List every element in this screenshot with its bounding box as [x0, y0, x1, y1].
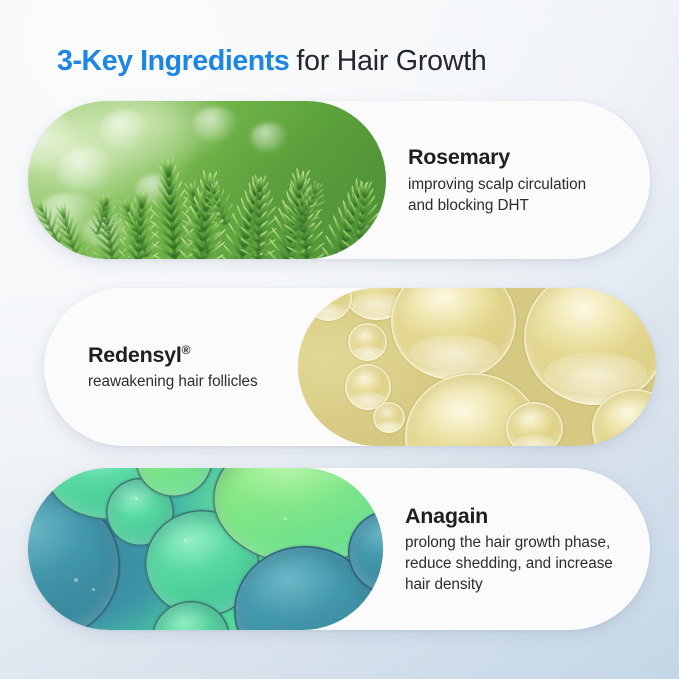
rosemary-sprig	[358, 193, 367, 259]
ingredient-description-redensyl: reawakening hair follicles	[88, 371, 284, 392]
description-line: reawakening hair follicles	[88, 371, 284, 392]
rosemary-sprig	[63, 214, 80, 259]
rosemary-sprig	[257, 187, 261, 259]
anagain-image	[28, 468, 383, 630]
rosemary-image	[28, 101, 386, 259]
infographic-page: 3-Key Ingredients for Hair Growth Rosema…	[0, 0, 679, 679]
page-title-rest: for Hair Growth	[296, 45, 486, 78]
page-title: 3-Key Ingredients for Hair Growth	[57, 40, 657, 82]
ingredient-card-anagain: Anagain prolong the hair growth phase, r…	[28, 468, 650, 630]
ingredient-name-anagain: Anagain	[405, 503, 624, 529]
golden-oil-photo-backdrop	[298, 288, 656, 446]
description-line: improving scalp circulation	[408, 174, 624, 195]
redensyl-image	[298, 288, 656, 446]
description-line: reduce shedding, and increase	[405, 553, 624, 574]
description-line: prolong the hair growth phase,	[405, 532, 624, 553]
rosemary-sprig	[40, 209, 58, 244]
registered-trademark-icon: ®	[182, 343, 191, 357]
anagain-copy: Anagain prolong the hair growth phase, r…	[383, 468, 650, 630]
rosemary-sprig	[168, 171, 177, 259]
teal-oil-photo-backdrop	[28, 468, 383, 630]
rosemary-copy: Rosemary improving scalp circulation and…	[386, 101, 650, 259]
ingredient-name-rosemary: Rosemary	[408, 144, 624, 170]
ingredient-description-rosemary: improving scalp circulation and blocking…	[408, 174, 624, 216]
redensyl-copy: Redensyl® reawakening hair follicles	[44, 288, 298, 446]
ingredient-card-rosemary: Rosemary improving scalp circulation and…	[28, 101, 650, 259]
rosemary-sprigs	[28, 101, 386, 259]
description-line: hair density	[405, 574, 624, 595]
ingredient-name-redensyl: Redensyl®	[88, 342, 284, 368]
ingredient-name-text: Redensyl	[88, 343, 182, 367]
description-line: and blocking DHT	[408, 195, 624, 216]
ingredient-description-anagain: prolong the hair growth phase, reduce sh…	[405, 532, 624, 595]
ingredient-card-redensyl: Redensyl® reawakening hair follicles	[44, 288, 656, 446]
page-title-accent: 3-Key Ingredients	[57, 45, 289, 78]
